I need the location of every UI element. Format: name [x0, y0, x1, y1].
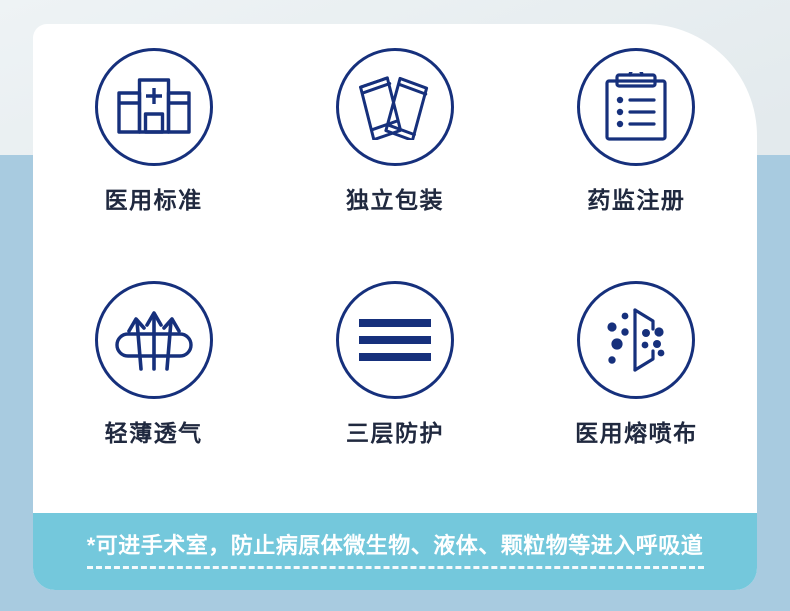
feature-label: 三层防护 — [346, 422, 444, 445]
icon-circle — [577, 48, 695, 166]
feature-item-nmpa-registration[interactable]: 药监注册 — [516, 48, 757, 281]
feature-label: 轻薄透气 — [105, 422, 203, 445]
icon-circle — [95, 281, 213, 399]
feature-item-medical-standard[interactable]: 医用标准 — [33, 48, 274, 281]
three-layers-icon — [359, 319, 431, 361]
hospital-building-icon — [117, 76, 191, 138]
icon-circle — [336, 281, 454, 399]
feature-item-meltblown-fabric[interactable]: 医用熔喷布 — [516, 281, 757, 514]
icon-circle — [95, 48, 213, 166]
feature-label: 医用标准 — [105, 189, 203, 212]
feature-label: 药监注册 — [587, 189, 685, 212]
feature-label: 独立包装 — [346, 189, 444, 212]
breathable-airflow-icon — [114, 307, 194, 373]
footnote-text: *可进手术室，防止病原体微生物、液体、颗粒物等进入呼吸道 — [87, 535, 704, 557]
footnote-banner: *可进手术室，防止病原体微生物、液体、颗粒物等进入呼吸道 — [33, 513, 757, 590]
feature-item-three-layer-protection[interactable]: 三层防护 — [274, 281, 515, 514]
individual-packaging-icon — [358, 74, 432, 140]
feature-item-breathable[interactable]: 轻薄透气 — [33, 281, 274, 514]
promo-page: 医用标准 — [0, 0, 790, 611]
dashed-divider — [87, 566, 704, 569]
feature-grid: 医用标准 — [33, 24, 757, 513]
feature-card: 医用标准 — [33, 24, 757, 590]
feature-item-individual-packaging[interactable]: 独立包装 — [274, 48, 515, 281]
clipboard-checklist-icon — [604, 72, 668, 142]
icon-circle — [336, 48, 454, 166]
meltblown-filter-icon — [601, 307, 671, 373]
feature-label: 医用熔喷布 — [575, 422, 698, 445]
icon-circle — [577, 281, 695, 399]
